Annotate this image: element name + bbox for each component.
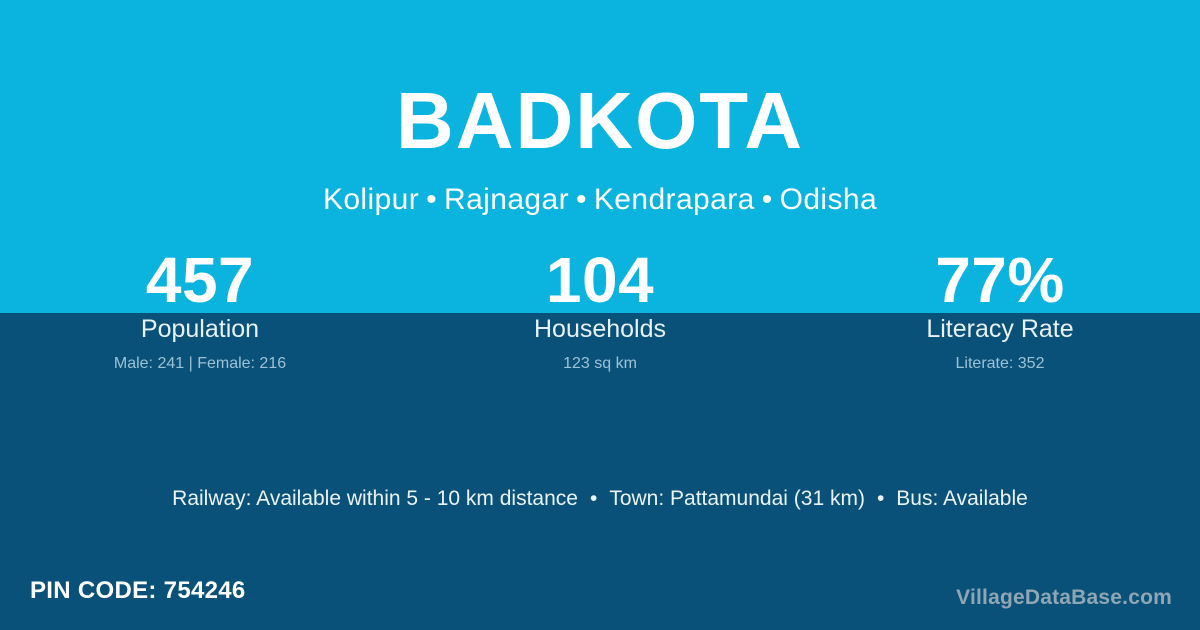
- stat-value: 77%: [800, 248, 1200, 306]
- breadcrumb-block: Rajnagar: [444, 183, 569, 216]
- breadcrumb-separator-1: •: [419, 183, 444, 216]
- stat-population: 457 Population Male: 241 | Female: 216: [0, 248, 400, 373]
- breadcrumb-separator-2: •: [569, 183, 594, 216]
- stat-value: 104: [400, 248, 800, 306]
- stat-label: Households: [400, 315, 800, 344]
- breadcrumb-panchayat: Kolipur: [323, 183, 419, 216]
- stat-sublabel: 123 sq km: [400, 354, 800, 373]
- amenity-railway: Railway: Available within 5 - 10 km dist…: [172, 487, 578, 510]
- stat-literacy-rate: 77% Literacy Rate Literate: 352: [800, 248, 1200, 373]
- amenities-row: Railway: Available within 5 - 10 km dist…: [0, 485, 1200, 513]
- amenity-separator-2: •: [865, 487, 896, 510]
- stat-value: 457: [0, 248, 400, 306]
- breadcrumb: Kolipur•Rajnagar•Kendrapara•Odisha: [0, 181, 1200, 219]
- pin-code: PIN CODE: 754246: [30, 577, 246, 606]
- amenity-bus: Bus: Available: [896, 487, 1028, 510]
- page-title: BADKOTA: [0, 81, 1200, 161]
- stat-label: Population: [0, 315, 400, 344]
- amenity-town: Town: Pattamundai (31 km): [609, 487, 865, 510]
- breadcrumb-state: Odisha: [780, 183, 877, 216]
- breadcrumb-district: Kendrapara: [594, 183, 755, 216]
- village-info-card: BADKOTA Kolipur•Rajnagar•Kendrapara•Odis…: [0, 0, 1200, 630]
- stat-sublabel: Male: 241 | Female: 216: [0, 354, 400, 373]
- stat-label: Literacy Rate: [800, 315, 1200, 344]
- amenity-separator-1: •: [578, 487, 609, 510]
- stats-row: 457 Population Male: 241 | Female: 216 1…: [0, 248, 1200, 373]
- stat-households: 104 Households 123 sq km: [400, 248, 800, 373]
- site-branding: VillageDataBase.com: [956, 585, 1172, 610]
- stat-sublabel: Literate: 352: [800, 354, 1200, 373]
- breadcrumb-separator-3: •: [755, 183, 780, 216]
